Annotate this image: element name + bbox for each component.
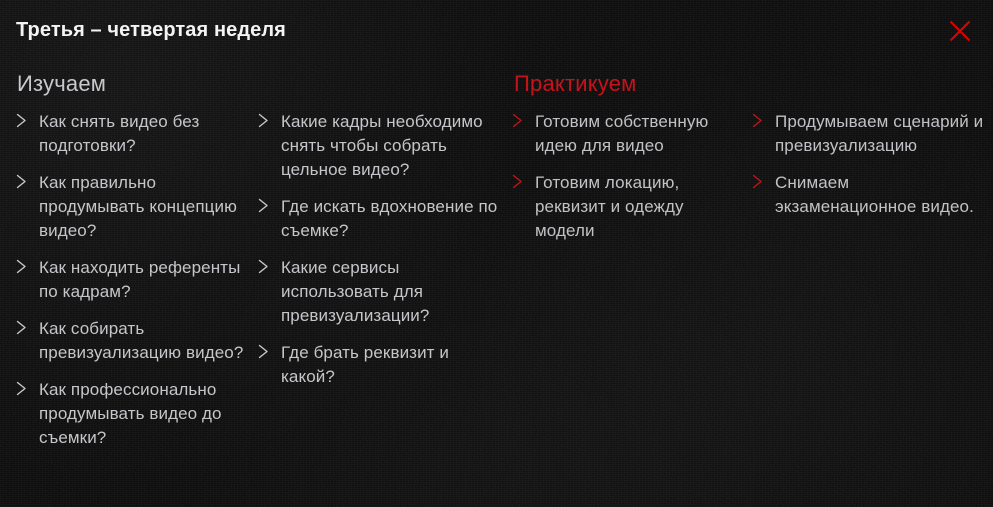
topic-list-practice-2: Продумываем сценарий и превизуализациюСн… [752,110,984,219]
chevron-right-icon [16,110,30,128]
list-item-label: Где брать реквизит и какой? [281,341,504,389]
list-item[interactable]: Как снять видео без подготовки? [16,110,248,158]
list-item[interactable]: Как собирать превизуализацию видео? [16,317,248,365]
chevron-right-icon [752,171,766,189]
chevron-right-icon [512,171,526,189]
column-practice-1: Готовим собственную идею для видеоГотови… [512,110,744,243]
list-item-label: Как профессионально продумывать видео до… [39,378,248,450]
column-learn-2: Какие кадры необходимо снять чтобы собра… [258,110,504,389]
list-item-label: Где искать вдохновение по съемке? [281,195,504,243]
section-heading-practice: Практикуем [514,70,637,98]
chevron-right-icon [752,110,766,128]
page-title: Третья – четвертая неделя [16,17,286,43]
list-item-label: Готовим локацию, реквизит и одежду модел… [535,171,744,243]
list-item[interactable]: Снимаем экзаменационное видео. [752,171,984,219]
close-button[interactable] [945,16,975,46]
chevron-right-icon [16,317,30,335]
list-item[interactable]: Продумываем сценарий и превизуализацию [752,110,984,158]
chevron-right-icon [258,195,272,213]
list-item-label: Как собирать превизуализацию видео? [39,317,248,365]
list-item[interactable]: Какие сервисы использовать для превизуал… [258,256,504,328]
chevron-right-icon [16,171,30,189]
column-practice-2: Продумываем сценарий и превизуализациюСн… [752,110,984,219]
topic-list-learn-1: Как снять видео без подготовки?Как прави… [16,110,248,450]
list-item[interactable]: Где брать реквизит и какой? [258,341,504,389]
chevron-right-icon [258,110,272,128]
chevron-right-icon [16,256,30,274]
list-item[interactable]: Как правильно продумывать концепцию виде… [16,171,248,243]
list-item-label: Как снять видео без подготовки? [39,110,248,158]
list-item[interactable]: Готовим собственную идею для видео [512,110,744,158]
list-item[interactable]: Где искать вдохновение по съемке? [258,195,504,243]
section-heading-learn: Изучаем [17,70,106,98]
list-item[interactable]: Какие кадры необходимо снять чтобы собра… [258,110,504,182]
list-item-label: Продумываем сценарий и превизуализацию [775,110,984,158]
close-icon [949,20,971,42]
list-item-label: Какие сервисы использовать для превизуал… [281,256,504,328]
list-item[interactable]: Готовим локацию, реквизит и одежду модел… [512,171,744,243]
list-item[interactable]: Как находить референты по кадрам? [16,256,248,304]
list-item[interactable]: Как профессионально продумывать видео до… [16,378,248,450]
chevron-right-icon [258,256,272,274]
list-item-label: Снимаем экзаменационное видео. [775,171,984,219]
topic-list-practice-1: Готовим собственную идею для видеоГотови… [512,110,744,243]
list-item-label: Как находить референты по кадрам? [39,256,248,304]
chevron-right-icon [258,341,272,359]
column-learn-1: Как снять видео без подготовки?Как прави… [16,110,248,450]
chevron-right-icon [512,110,526,128]
list-item-label: Как правильно продумывать концепцию виде… [39,171,248,243]
list-item-label: Готовим собственную идею для видео [535,110,744,158]
week-details-modal: Третья – четвертая неделя Изучаем Практи… [0,0,993,507]
list-item-label: Какие кадры необходимо снять чтобы собра… [281,110,504,182]
topic-list-learn-2: Какие кадры необходимо снять чтобы собра… [258,110,504,389]
chevron-right-icon [16,378,30,396]
